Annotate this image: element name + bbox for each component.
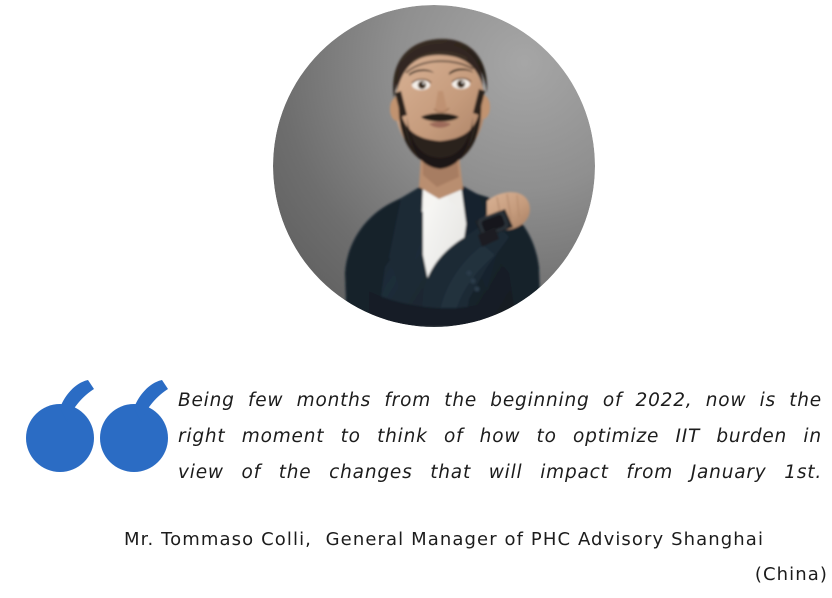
quote-line-2: rightmomenttothinkofhowtooptimizeIITburd… <box>178 419 822 455</box>
quote-text: Beingfewmonthsfromthebeginningof2022,now… <box>178 383 822 491</box>
quotation-mark-icon <box>24 378 170 478</box>
attribution-line-1: Mr. Tommaso Colli, General Manager of PH… <box>124 522 828 557</box>
avatar <box>273 5 595 327</box>
attribution: Mr. Tommaso Colli, General Manager of PH… <box>124 522 828 592</box>
attribution-line-2: (China) <box>124 557 828 592</box>
quote-line-3: view of the changes that will impact fro… <box>178 455 822 491</box>
portrait-photo <box>273 5 595 327</box>
quote-line-1: Beingfewmonthsfromthebeginningof2022,now… <box>178 383 822 419</box>
testimonial-card: Beingfewmonthsfromthebeginningof2022,now… <box>0 0 832 598</box>
